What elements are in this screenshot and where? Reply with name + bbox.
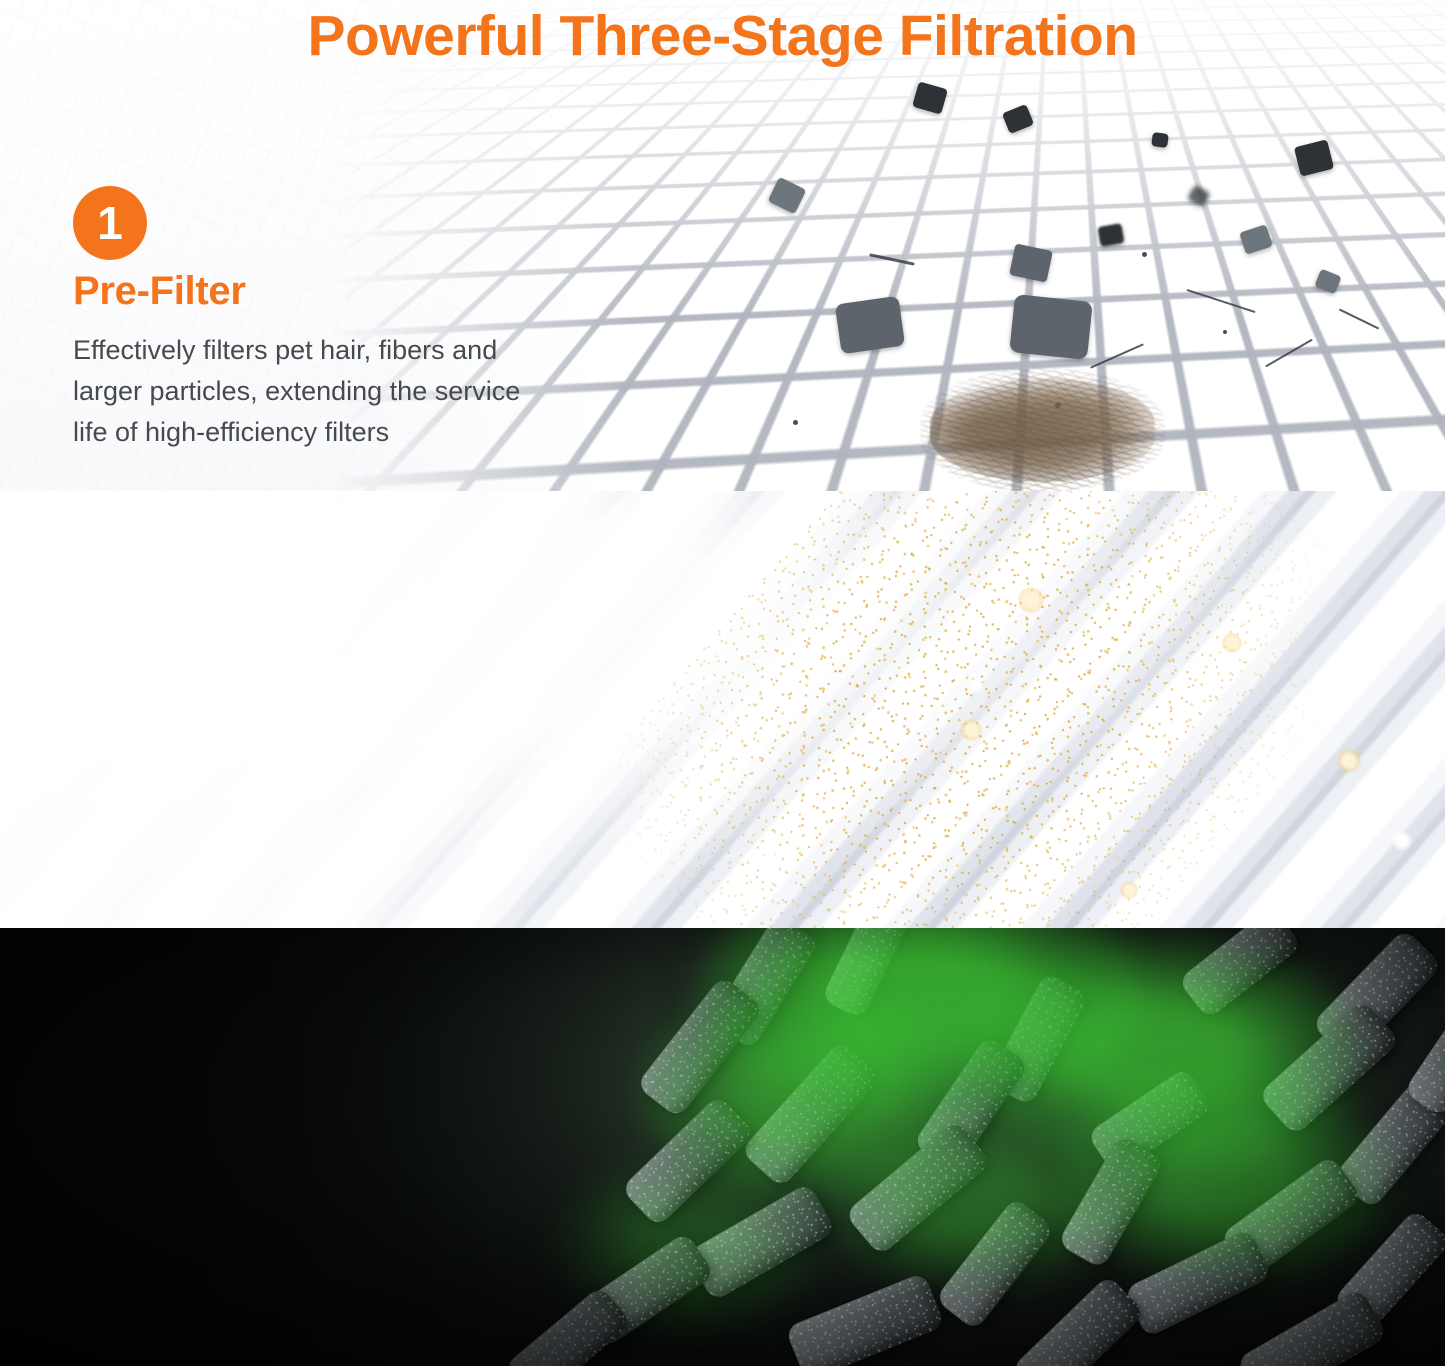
debris-speck <box>1223 330 1227 334</box>
dust-bokeh <box>1120 881 1138 899</box>
dust-bokeh <box>1018 587 1044 613</box>
dust-bokeh <box>960 719 982 741</box>
pet-hair-tangle <box>930 378 1155 482</box>
stage-1-number-badge: 1 <box>73 186 147 260</box>
debris-particle-large <box>1009 294 1093 360</box>
debris-particle <box>1097 223 1124 247</box>
debris-particle-large <box>835 296 905 354</box>
dust-bokeh <box>1337 749 1361 773</box>
debris-particle <box>1151 132 1169 148</box>
stage-2-panel: 2 HEPA Filter Removes 99.97% of particle… <box>0 491 1445 928</box>
stage-1-description-line: Effectively filters pet hair, fibers and <box>73 330 520 371</box>
hair-fiber-texture <box>920 368 1165 491</box>
dust-bokeh <box>968 677 984 693</box>
stage-1-description-line: life of high-efficiency filters <box>73 412 520 453</box>
dust-bokeh <box>762 849 778 865</box>
debris-speck <box>793 420 798 425</box>
three-stage-filtration-infographic: 1 Pre-Filter Effectively filters pet hai… <box>0 0 1445 1366</box>
debris-speck <box>1142 252 1147 257</box>
stage-1-panel: 1 Pre-Filter Effectively filters pet hai… <box>0 0 1445 491</box>
dust-bokeh <box>1222 633 1242 653</box>
stage-3-panel: 3 Active Carbon Filter Highly Effective … <box>0 928 1445 1366</box>
stage-1-title: Pre-Filter <box>73 269 520 314</box>
stage-1-description-line: larger particles, extending the service <box>73 371 520 412</box>
stage-1-text-block: 1 Pre-Filter Effectively filters pet hai… <box>73 186 520 453</box>
stage-3-vignette <box>0 928 1445 1366</box>
stage-1-description: Effectively filters pet hair, fibers and… <box>73 330 520 453</box>
dust-bokeh <box>710 599 728 617</box>
dust-bokeh <box>1392 831 1412 851</box>
